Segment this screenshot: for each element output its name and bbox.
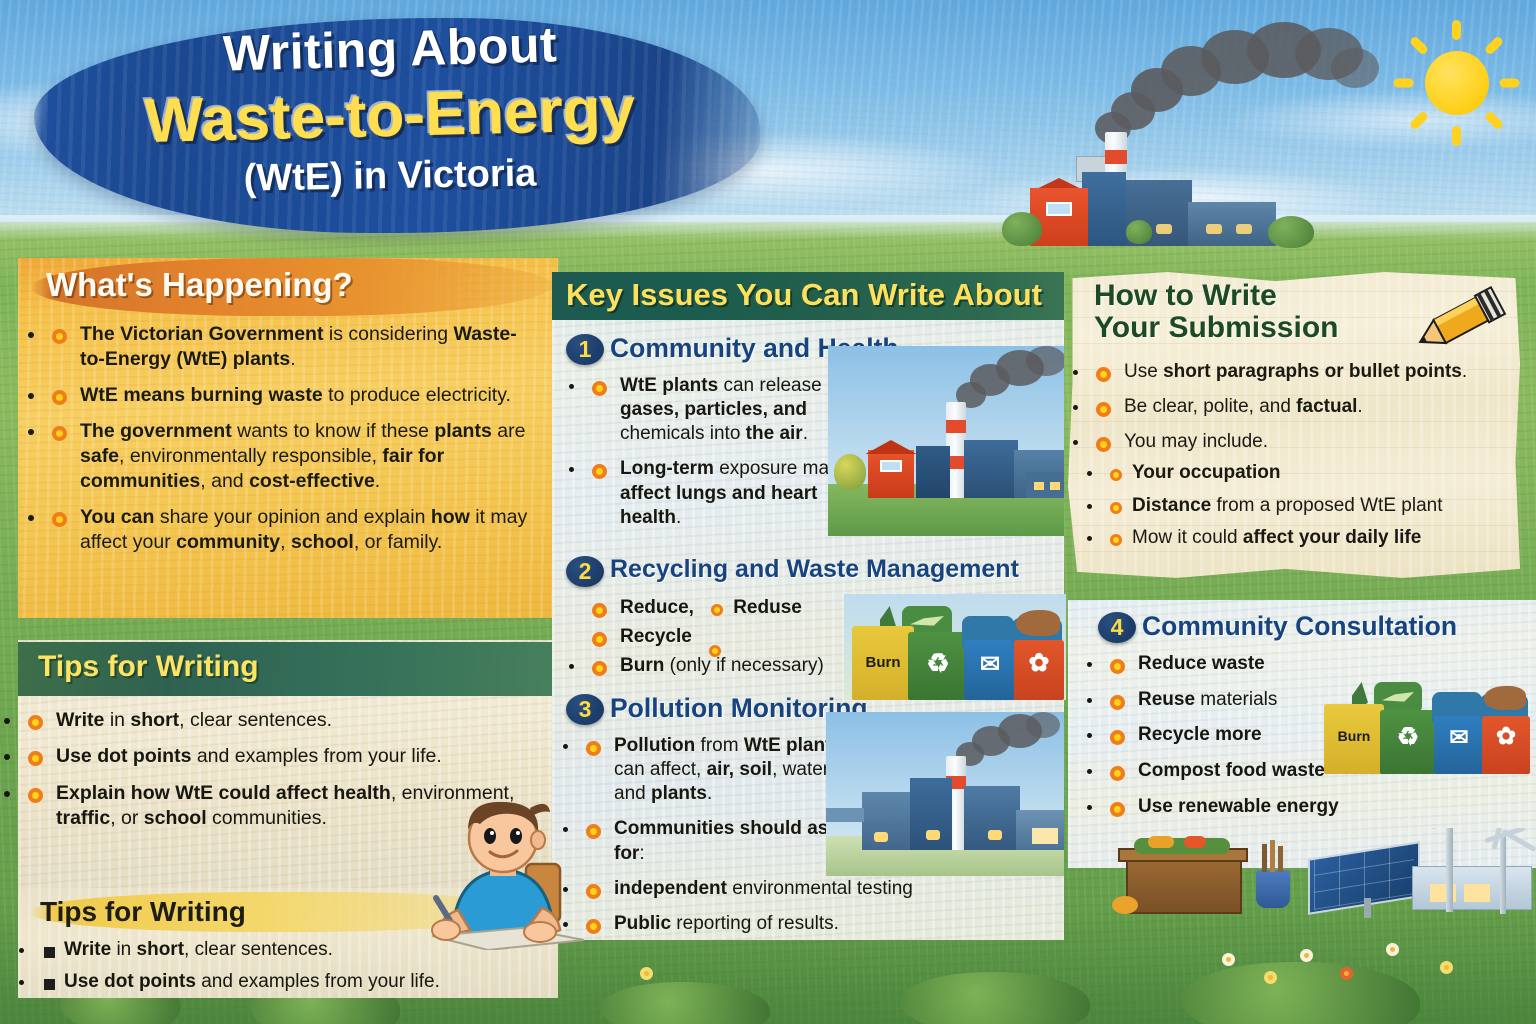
- list-item: Reduce waste: [1104, 652, 1354, 677]
- whats-happening-list: The Victorian Government is considering …: [46, 322, 532, 566]
- key-issues-heading: Key Issues You Can Write About: [566, 277, 1042, 313]
- section-number-badge: 1: [566, 334, 604, 365]
- list-item: Recycle more: [1104, 723, 1354, 748]
- list-item: Distance from a proposed WtE plant: [1104, 494, 1522, 518]
- section-list: Pollution from WtE plants can affect, ai…: [580, 734, 860, 866]
- list-item: Use renewable energy: [1104, 795, 1354, 820]
- list-item: Write in short, clear sentences.: [22, 708, 522, 733]
- list-item: Reduse: [705, 596, 802, 620]
- tips-heading-primary: Tips for Writing: [38, 650, 259, 684]
- tips-heading-secondary: Tips for Writing: [40, 896, 246, 928]
- list-item: Communities should ask for:: [580, 817, 860, 865]
- section-list: Reduce, Reduse Recycle Burn (only if nec…: [586, 596, 876, 678]
- list-item: Be clear, polite, and factual.: [1090, 395, 1522, 419]
- section-list-wide: independent environmental testing Public…: [580, 877, 1048, 936]
- list-item: Use dot points and examples from your li…: [36, 970, 516, 995]
- list-item: Recycle: [586, 625, 698, 649]
- list-item: independent environmental testing: [580, 877, 1048, 901]
- list-item: Burn (only if necessary): [586, 654, 876, 678]
- infographic-poster: Writing About Waste-to-Energy (WtE) in V…: [0, 0, 1536, 1024]
- section-number-badge: 2: [566, 556, 604, 587]
- how-to-write-heading: How to Write Your Submission: [1094, 280, 1394, 345]
- list-item: Pollution from WtE plants can affect, ai…: [580, 734, 860, 806]
- title-line-3: (WtE) in Victoria: [40, 149, 741, 204]
- how-to-write-list: Use short paragraphs or bullet points. B…: [1090, 360, 1522, 558]
- list-item: Use dot points and examples from your li…: [22, 744, 522, 769]
- recycle-icon: ♻: [914, 648, 962, 679]
- list-item: WtE means burning waste to produce elect…: [46, 383, 532, 408]
- list-item: WtE plants can release gases, particles,…: [586, 374, 854, 446]
- list-item: Reuse materials: [1104, 688, 1354, 713]
- community-consultation-title: Community Consultation: [1142, 611, 1457, 642]
- list-item: Reduce,: [586, 596, 700, 620]
- list-item: Compost food waste: [1104, 759, 1354, 784]
- list-item: You may include.: [1090, 430, 1522, 454]
- sun-core: [1425, 51, 1489, 115]
- recycling-bins-illustration-1: Burn ♻ ✉ ✿: [844, 594, 1066, 700]
- list-item: Public reporting of results.: [580, 912, 1048, 936]
- boy-writing-icon: [418, 790, 588, 950]
- recycle-icon: ♻: [1384, 722, 1432, 752]
- renewable-energy-illustration: [1112, 828, 1536, 948]
- community-consultation-list: Reduce waste Reuse materials Recycle mor…: [1104, 652, 1354, 830]
- whats-happening-heading: What's Happening?: [46, 266, 353, 304]
- section-header: 2 Recycling and Waste Management: [552, 556, 1064, 592]
- organic-icon: ✿: [1016, 648, 1062, 678]
- paper-icon: ✉: [1436, 724, 1482, 751]
- how-to-write-heading-line-1: How to Write: [1094, 280, 1394, 312]
- paper-icon: ✉: [966, 650, 1014, 679]
- wte-plant-illustration-2: [826, 712, 1064, 876]
- section-title: Recycling and Waste Management: [610, 555, 1019, 584]
- bin-label-burn: Burn: [854, 654, 912, 671]
- section-number-badge: 3: [566, 694, 604, 725]
- list-item: Use short paragraphs or bullet points.: [1090, 360, 1522, 384]
- wte-plant-illustration-1: [828, 346, 1064, 536]
- list-item: The government wants to know if these pl…: [46, 419, 532, 494]
- section-list: WtE plants can release gases, particles,…: [586, 374, 854, 530]
- section-number-badge: 4: [1098, 612, 1136, 643]
- list-item: Your occupation: [1104, 461, 1522, 485]
- organic-icon: ✿: [1484, 722, 1528, 751]
- page-title: Writing About Waste-to-Energy (WtE) in V…: [40, 20, 740, 198]
- pencil-icon: [1408, 284, 1512, 362]
- waste-to-energy-plant-illustration: [1030, 120, 1290, 245]
- list-item: Mow it could affect your daily life: [1104, 526, 1522, 550]
- list-item: The Victorian Government is considering …: [46, 322, 532, 372]
- how-to-write-heading-line-2: Your Submission: [1094, 312, 1394, 344]
- list-item: Long-term exposure may affect lungs and …: [586, 457, 854, 529]
- sun-icon: [1392, 18, 1522, 148]
- list-item: You can share your opinion and explain h…: [46, 505, 532, 555]
